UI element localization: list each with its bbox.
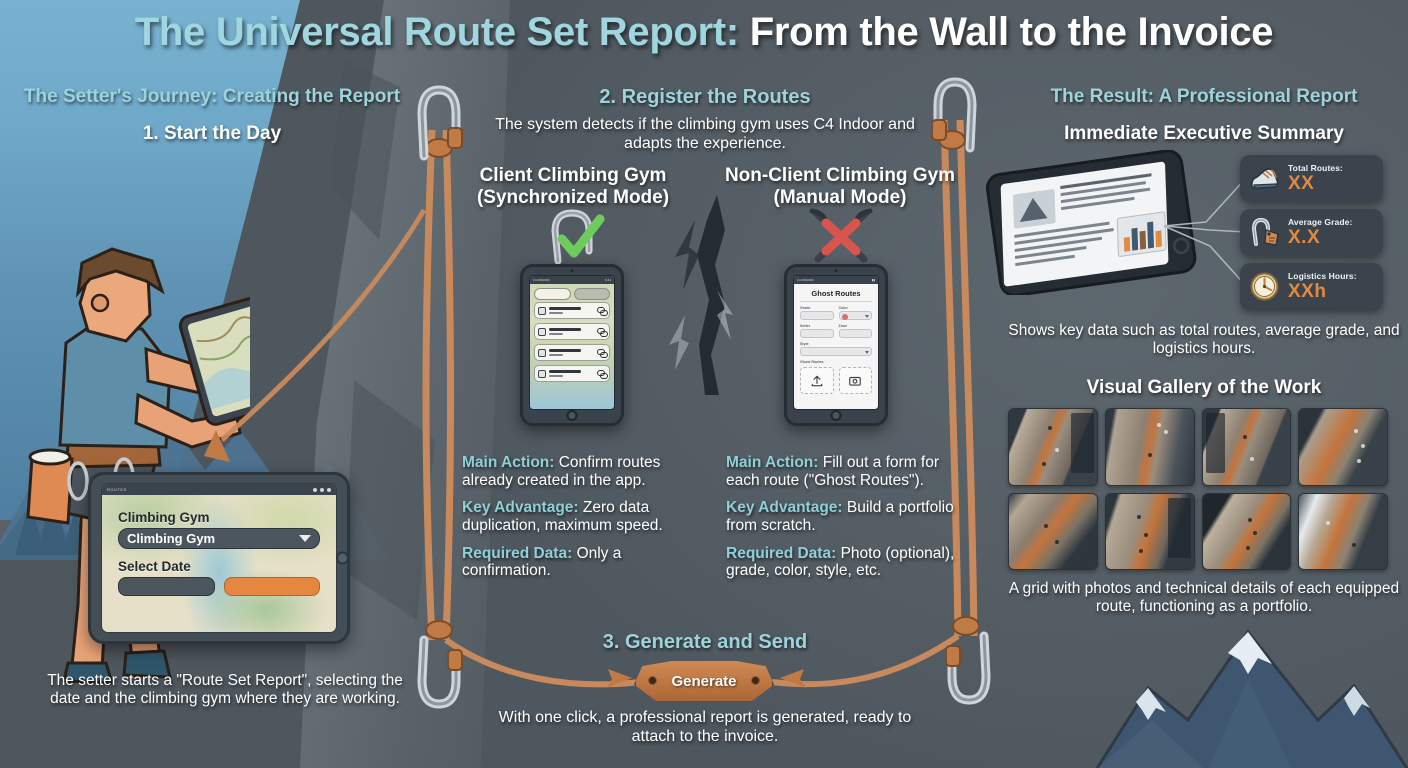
style-select[interactable] <box>800 347 872 356</box>
title-part-1: The Universal Route Set Report: <box>135 10 739 54</box>
zone-field: Zone <box>839 324 873 338</box>
route-photo-3[interactable] <box>1202 408 1292 486</box>
detail-label: Main Action: <box>726 454 818 471</box>
stat-logistics-hours: Logistics Hours: XXh <box>1240 263 1383 310</box>
sync-tab-bar <box>530 284 614 302</box>
summary-caption: Shows key data such as total routes, ave… <box>1000 322 1408 359</box>
manual-mode-screen: C4 INDOOR ▮▮ Ghost Routes Grade Color <box>793 275 879 410</box>
chevron-down-icon <box>299 535 311 542</box>
gallery-title: Visual Gallery of the Work <box>1000 377 1408 399</box>
route-text <box>549 349 594 356</box>
generate-button[interactable]: Generate <box>634 659 774 703</box>
middle-step-title: 2. Register the Routes <box>470 86 940 109</box>
photo-icon[interactable] <box>839 367 873 394</box>
setter-label: Setter <box>800 324 834 328</box>
executive-summary-title: Immediate Executive Summary <box>1000 123 1408 145</box>
date-input[interactable] <box>118 577 215 596</box>
route-icon <box>538 328 546 336</box>
climbing-gym-select-value: Climbing Gym <box>127 531 215 546</box>
wall-crack <box>655 195 775 395</box>
carabiner-check-icon <box>542 207 606 265</box>
carabiner-bottom-left-icon <box>408 632 470 710</box>
detail-required-data: Required Data: Photo (optional), grade, … <box>726 545 958 580</box>
stat-label: Total Routes: <box>1288 164 1343 173</box>
route-photo-1[interactable] <box>1008 408 1098 486</box>
detail-label: Required Data: <box>462 545 572 562</box>
confirm-button[interactable] <box>224 577 321 596</box>
route-photo-2[interactable] <box>1105 408 1195 486</box>
generate-caption: With one click, a professional report is… <box>490 709 920 747</box>
manual-details: Main Action: Fill out a form for each ro… <box>726 454 958 580</box>
list-item[interactable] <box>534 365 610 382</box>
list-item[interactable] <box>534 302 610 319</box>
branch-manual-heading-line2: (Manual Mode) <box>724 187 956 209</box>
route-text <box>549 328 594 335</box>
sync-status-right: 9:41 <box>605 278 611 282</box>
ghost-routes-form: Grade Color Setter Zone <box>794 306 878 356</box>
middle-intro-text: The system detects if the climbing gym u… <box>470 116 940 154</box>
stat-value: X.X <box>1288 228 1352 247</box>
route-photo-4[interactable] <box>1298 408 1388 486</box>
detail-required-data: Required Data: Only a confirmation. <box>462 545 684 580</box>
stat-value: XX <box>1288 174 1343 193</box>
select-date-label: Select Date <box>118 559 320 574</box>
climbing-shoe-icon <box>1248 162 1281 195</box>
detail-label: Required Data: <box>726 545 836 562</box>
sync-mode-tablet: C4 INDOOR 9:41 <box>520 264 624 426</box>
route-icon <box>538 370 546 378</box>
gallery-caption: A grid with photos and technical details… <box>1000 580 1408 617</box>
report-tablet <box>985 150 1200 295</box>
upload-row <box>794 367 878 394</box>
stat-average-grade: Average Grade: X.X <box>1240 209 1383 256</box>
style-label: Style <box>800 342 872 346</box>
tab-routes[interactable] <box>534 288 571 300</box>
branch-sync-heading-line1: Client Climbing Gym <box>462 165 684 187</box>
tablet-home-button[interactable] <box>831 410 842 421</box>
style-field: Style <box>800 342 872 356</box>
setter-field: Setter <box>800 324 834 338</box>
link-icon <box>597 348 606 357</box>
tablet-camera <box>571 269 574 272</box>
tablet-home-button[interactable] <box>336 552 349 565</box>
clock-icon <box>1248 270 1281 303</box>
crossed-picks-x-icon <box>806 207 876 265</box>
detail-main-action: Main Action: Confirm routes already crea… <box>462 454 684 489</box>
infographic-canvas: The Universal Route Set Report: From the… <box>0 0 1408 768</box>
tab-synchronized[interactable] <box>574 288 611 300</box>
route-photo-6[interactable] <box>1105 493 1195 571</box>
stat-text: Logistics Hours: XXh <box>1288 272 1357 302</box>
sync-status-bar: C4 INDOOR 9:41 <box>530 276 614 284</box>
climbing-gym-label: Climbing Gym <box>118 510 320 525</box>
detail-label: Key Advantage: <box>726 499 843 516</box>
branch-manual-heading-line1: Non-Client Climbing Gym <box>724 165 956 187</box>
detail-label: Key Advantage: <box>462 499 579 516</box>
carabiner-top-left-icon <box>408 84 470 162</box>
ghost-routes-title: Ghost Routes <box>794 289 878 298</box>
route-text <box>549 307 594 314</box>
route-text <box>549 370 594 377</box>
upload-icon[interactable] <box>800 367 834 394</box>
stat-total-routes: Total Routes: XX <box>1240 155 1383 202</box>
link-icon <box>597 306 606 315</box>
list-item[interactable] <box>534 323 610 340</box>
color-select[interactable] <box>839 311 873 320</box>
generate-button-label: Generate <box>671 673 736 690</box>
bolt-icon <box>751 676 760 685</box>
grade-label: Grade <box>800 306 834 310</box>
setter-input[interactable] <box>800 329 834 338</box>
title-part-2: From the Wall to the Invoice <box>750 10 1274 54</box>
stat-text: Average Grade: X.X <box>1288 218 1352 248</box>
grade-field: Grade <box>800 306 834 320</box>
stat-label: Logistics Hours: <box>1288 272 1357 281</box>
detail-key-advantage: Key Advantage: Zero data duplication, ma… <box>462 499 684 534</box>
route-set-report-form: Climbing Gym Climbing Gym Select Date <box>118 510 320 596</box>
zone-input[interactable] <box>839 329 873 338</box>
bolt-icon <box>648 676 657 685</box>
left-column-header: The Setter's Journey: Creating the Repor… <box>0 86 424 108</box>
uploads-label: Ghost Routes <box>794 360 878 364</box>
list-item[interactable] <box>534 344 610 361</box>
form-row: Style <box>800 342 872 356</box>
link-icon <box>597 369 606 378</box>
branch-sync-heading-line2: (Synchronized Mode) <box>462 187 684 209</box>
stat-text: Total Routes: XX <box>1288 164 1343 194</box>
route-icon <box>538 349 546 357</box>
setter-tablet-screen: ROUTES Climbing Gym Climbing Gym Select … <box>101 483 337 633</box>
tablet-home-button[interactable] <box>567 410 578 421</box>
color-field: Color <box>839 306 873 320</box>
climbing-gym-select[interactable]: Climbing Gym <box>118 528 320 549</box>
link-icon <box>597 327 606 336</box>
form-row: Setter Zone <box>800 324 872 338</box>
route-photo-8[interactable] <box>1298 493 1388 571</box>
left-step-title: 1. Start the Day <box>0 123 424 145</box>
color-label: Color <box>839 306 873 310</box>
form-row: Grade Color <box>800 306 872 320</box>
route-icon <box>538 307 546 315</box>
mountain-range-right <box>1096 628 1408 768</box>
date-row <box>118 577 320 596</box>
divider <box>800 301 872 302</box>
sync-route-list <box>530 302 614 382</box>
zone-label: Zone <box>839 324 873 328</box>
page-title: The Universal Route Set Report: From the… <box>0 10 1408 55</box>
stat-value: XXh <box>1288 282 1357 301</box>
setter-tablet: ROUTES Climbing Gym Climbing Gym Select … <box>88 472 350 644</box>
sync-mode-screen: C4 INDOOR 9:41 <box>529 275 615 410</box>
detail-key-advantage: Key Advantage: Build a portfolio from sc… <box>726 499 958 534</box>
ghost-status-bar: C4 INDOOR ▮▮ <box>794 276 878 284</box>
detail-label: Main Action: <box>462 454 554 471</box>
ghost-status-left: C4 INDOOR <box>797 278 814 282</box>
manual-mode-tablet: C4 INDOOR ▮▮ Ghost Routes Grade Color <box>784 264 888 426</box>
right-column-header: The Result: A Professional Report <box>1000 86 1408 108</box>
sync-details: Main Action: Confirm routes already crea… <box>462 454 684 580</box>
sync-status-left: C4 INDOOR <box>533 278 550 282</box>
ghost-status-right: ▮▮ <box>872 278 875 282</box>
grade-input[interactable] <box>800 311 834 320</box>
route-photo-7[interactable] <box>1202 493 1292 571</box>
photo-gallery <box>1008 408 1388 570</box>
tablet-status-bar: ROUTES <box>102 484 336 495</box>
status-bar-dots <box>313 488 331 492</box>
detail-main-action: Main Action: Fill out a form for each ro… <box>726 454 958 489</box>
route-photo-5[interactable] <box>1008 493 1098 571</box>
color-swatch <box>842 314 848 320</box>
left-caption: The setter starts a "Route Set Report", … <box>30 672 420 709</box>
carabiner-tag-icon <box>1248 216 1281 249</box>
tablet-camera <box>835 269 838 272</box>
status-bar-label: ROUTES <box>107 487 127 492</box>
stat-label: Average Grade: <box>1288 218 1352 227</box>
carabiner-bottom-right-icon <box>938 628 1000 706</box>
generate-step-title: 3. Generate and Send <box>470 631 940 654</box>
